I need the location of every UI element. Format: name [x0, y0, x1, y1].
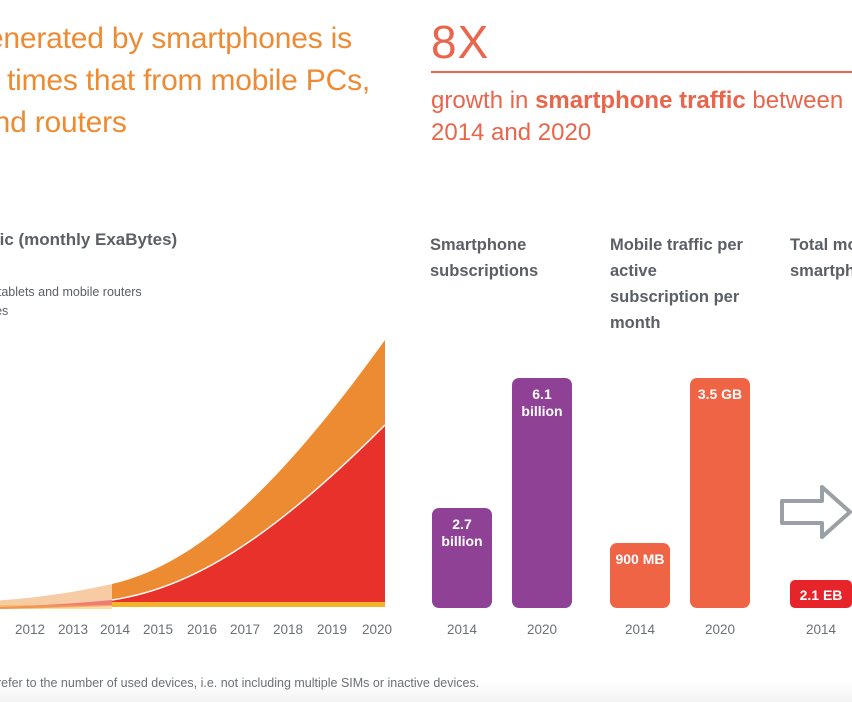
- bar-value-label: 3.5 GB: [690, 386, 750, 403]
- bar-traffic-per-subscription-2014[interactable]: 900 MB: [610, 543, 670, 608]
- bar-value-label: 6.1 billion: [512, 386, 572, 420]
- bar-value-label: 2.7 billion: [432, 516, 492, 550]
- bar-year-label-traffic-2020: 2020: [705, 622, 735, 637]
- right-arrow-svg: [778, 481, 852, 543]
- bar-total-smartphone-traffic-2014[interactable]: 2.1 EB: [790, 580, 852, 608]
- bar-year-label-subscriptions-2020: 2020: [527, 622, 557, 637]
- bar-charts-group: 2.7 billion 2014 6.1 billion 2020 900 MB…: [0, 0, 852, 702]
- bar-year-label-subscriptions-2014: 2014: [447, 622, 477, 637]
- footnote-text: Subscriptions here refer to the number o…: [0, 676, 479, 690]
- bar-traffic-per-subscription-2020[interactable]: 3.5 GB: [690, 378, 750, 608]
- bar-value-label: 2.1 EB: [790, 587, 852, 604]
- bar-year-label-total-2014: 2014: [806, 622, 836, 637]
- bar-value-label: 900 MB: [610, 551, 670, 568]
- bar-year-label-traffic-2014: 2014: [625, 622, 655, 637]
- bar-smartphone-subscriptions-2020[interactable]: 6.1 billion: [512, 378, 572, 608]
- bar-smartphone-subscriptions-2014[interactable]: 2.7 billion: [432, 508, 492, 608]
- slide-canvas: Traffic generated by smartphones is arou…: [0, 0, 852, 702]
- right-arrow-icon: [778, 481, 852, 543]
